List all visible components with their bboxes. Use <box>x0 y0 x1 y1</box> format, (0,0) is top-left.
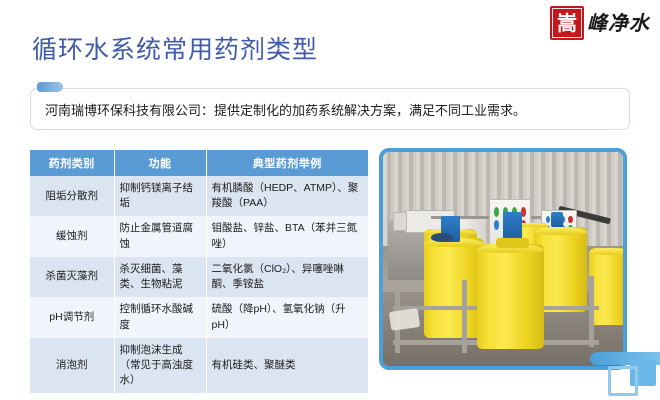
cell-function: 抑制泡沫生成（常见于高浊度水） <box>114 338 206 394</box>
table-row: pH调节剂 控制循环水酸碱度 硫酸（降pH）、氢氧化钠（升pH） <box>30 297 368 337</box>
photo-content <box>383 152 623 366</box>
cell-function: 杀灭细菌、藻类、生物粘泥 <box>114 257 206 297</box>
page-title: 循环水系统常用药剂类型 <box>32 30 318 66</box>
cell-function: 防止金属管道腐蚀 <box>114 216 206 256</box>
led-icon <box>494 207 500 218</box>
cell-category: pH调节剂 <box>30 297 114 337</box>
seal-icon: 嵩 <box>550 6 584 40</box>
mixer-motor <box>551 212 563 227</box>
cell-examples: 有机硅类、聚醚类 <box>206 338 368 394</box>
subtitle-text: 河南瑞博环保科技有限公司：提供定制化的加药系统解决方案，满足不同工业需求。 <box>31 100 526 119</box>
cell-examples: 有机膦酸（HEDP、ATMP）、聚羧酸（PAA） <box>206 176 368 216</box>
cell-function: 控制循环水酸碱度 <box>114 297 206 337</box>
brand-logo: 嵩 峰净水 <box>550 6 650 40</box>
table-row: 杀菌灭藻剂 杀灭细菌、藻类、生物粘泥 二氧化氯（ClO₂）、异噻唑啉酮、季铵盐 <box>30 257 368 297</box>
support-frame-post <box>462 280 467 353</box>
mixer-motor <box>503 212 522 240</box>
table-header-row: 药剂类别 功能 典型药剂举例 <box>30 150 368 176</box>
corner-decoration <box>590 352 660 394</box>
mixer-mount <box>496 238 530 249</box>
dosing-tank <box>589 248 623 325</box>
table-row: 缓蚀剂 防止金属管道腐蚀 钼酸盐、锌盐、BTA（苯并三氮唑） <box>30 216 368 256</box>
led-icon <box>546 216 551 224</box>
chemical-types-table: 药剂类别 功能 典型药剂举例 阻垢分散剂 抑制钙镁离子结垢 有机膦酸（HEDP、… <box>30 150 368 393</box>
dosing-tank <box>424 238 484 339</box>
column-header-category: 药剂类别 <box>30 150 114 176</box>
column-header-function: 功能 <box>114 150 206 176</box>
table-row: 阻垢分散剂 抑制钙镁离子结垢 有机膦酸（HEDP、ATMP）、聚羧酸（PAA） <box>30 176 368 216</box>
cell-category: 缓蚀剂 <box>30 216 114 256</box>
slide-root: 嵩 峰净水 循环水系统常用药剂类型 河南瑞博环保科技有限公司：提供定制化的加药系… <box>0 0 660 400</box>
dosing-system-photo <box>379 148 627 370</box>
tank-cap <box>431 233 453 242</box>
cell-examples: 钼酸盐、锌盐、BTA（苯并三氮唑） <box>206 216 368 256</box>
cell-category: 消泡剂 <box>30 338 114 394</box>
cell-category: 阻垢分散剂 <box>30 176 114 216</box>
decoration-square-outline <box>608 366 638 396</box>
subtitle-callout: 河南瑞博环保科技有限公司：提供定制化的加药系统解决方案，满足不同工业需求。 <box>30 88 630 130</box>
cell-function: 抑制钙镁离子结垢 <box>114 176 206 216</box>
cell-category: 杀菌灭藻剂 <box>30 257 114 297</box>
table-row: 消泡剂 抑制泡沫生成（常见于高浊度水） 有机硅类、聚醚类 <box>30 338 368 394</box>
brand-name: 峰净水 <box>587 13 650 33</box>
cell-examples: 二氧化氯（ClO₂）、异噻唑啉酮、季铵盐 <box>206 257 368 297</box>
dosing-tank <box>477 244 544 349</box>
led-icon <box>494 220 500 231</box>
cell-examples: 硫酸（降pH）、氢氧化钠（升pH） <box>206 297 368 337</box>
column-header-examples: 典型药剂举例 <box>206 150 368 176</box>
wall-box-small <box>393 212 407 231</box>
callout-tab-icon <box>37 82 63 92</box>
led-icon <box>568 216 573 224</box>
support-frame-post <box>589 276 594 347</box>
